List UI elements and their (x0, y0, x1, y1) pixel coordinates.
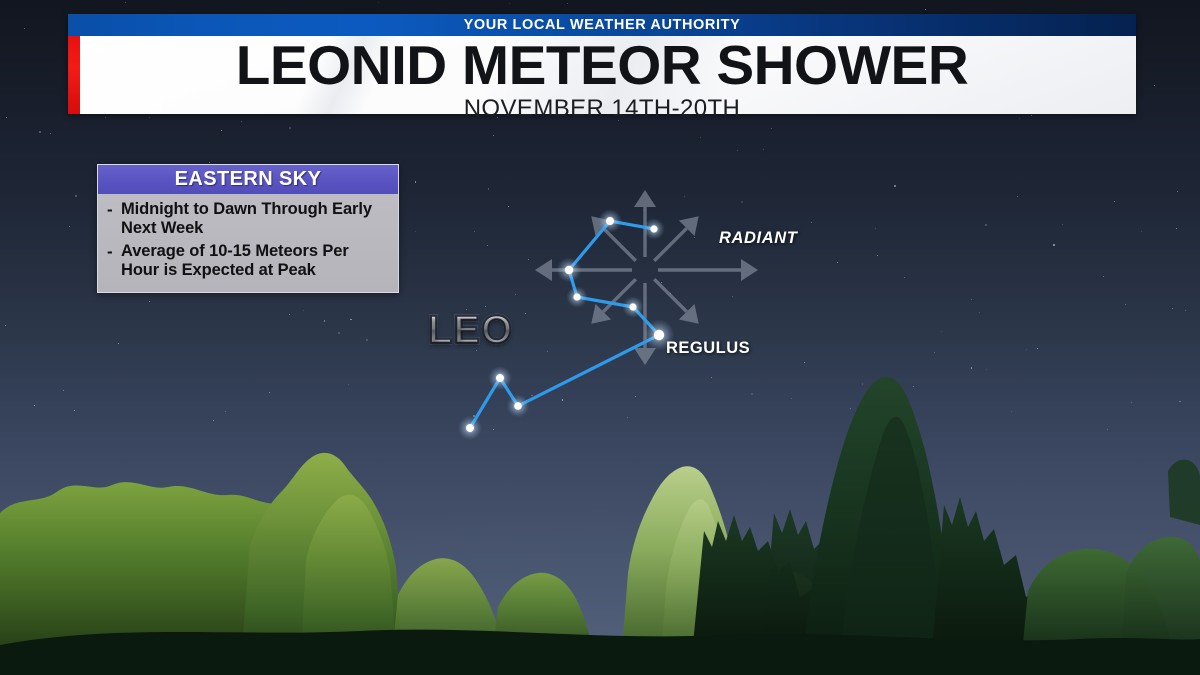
star-adhafera (650, 225, 657, 232)
star-eta-leo (629, 303, 636, 310)
bullet-text: Midnight to Dawn Through Early Next Week (121, 200, 389, 239)
banner-red-accent (68, 36, 80, 114)
treeline-silhouette (0, 345, 1200, 675)
radiant-label: RADIANT (719, 229, 797, 248)
infobox-header: EASTERN SKY (98, 165, 398, 194)
star-eta (573, 293, 580, 300)
page-subtitle: NOVEMBER 14TH-20TH (68, 97, 1136, 121)
star-algieba (606, 217, 614, 225)
infobox-bullet: -Average of 10-15 Meteors Per Hour is Ex… (107, 242, 389, 281)
bullet-dash: - (107, 242, 121, 262)
title-banner: YOUR LOCAL WEATHER AUTHORITY LEONID METE… (68, 14, 1136, 114)
arrow-e (658, 259, 758, 281)
station-branding-strip: YOUR LOCAL WEATHER AUTHORITY (68, 14, 1136, 36)
bullet-text: Average of 10-15 Meteors Per Hour is Exp… (121, 242, 389, 281)
arrow-se (654, 279, 699, 324)
infobox-title: EASTERN SKY (175, 168, 322, 191)
page-title: LEONID METEOR SHOWER (52, 38, 1152, 93)
station-branding-text: YOUR LOCAL WEATHER AUTHORITY (464, 17, 741, 33)
arrow-w (535, 259, 632, 281)
eastern-sky-infobox: EASTERN SKY -Midnight to Dawn Through Ea… (97, 164, 399, 293)
bullet-dash: - (107, 200, 121, 220)
constellation-label-leo: LEO (428, 310, 513, 350)
infobox-bullet: -Midnight to Dawn Through Early Next Wee… (107, 200, 389, 239)
star-epsilon (565, 266, 573, 274)
weather-graphic: LEO RADIANT REGULUS (0, 0, 1200, 675)
infobox-body: -Midnight to Dawn Through Early Next Wee… (98, 194, 398, 292)
tree-sprig-top-right (1168, 459, 1200, 525)
star-regulus (654, 330, 664, 340)
